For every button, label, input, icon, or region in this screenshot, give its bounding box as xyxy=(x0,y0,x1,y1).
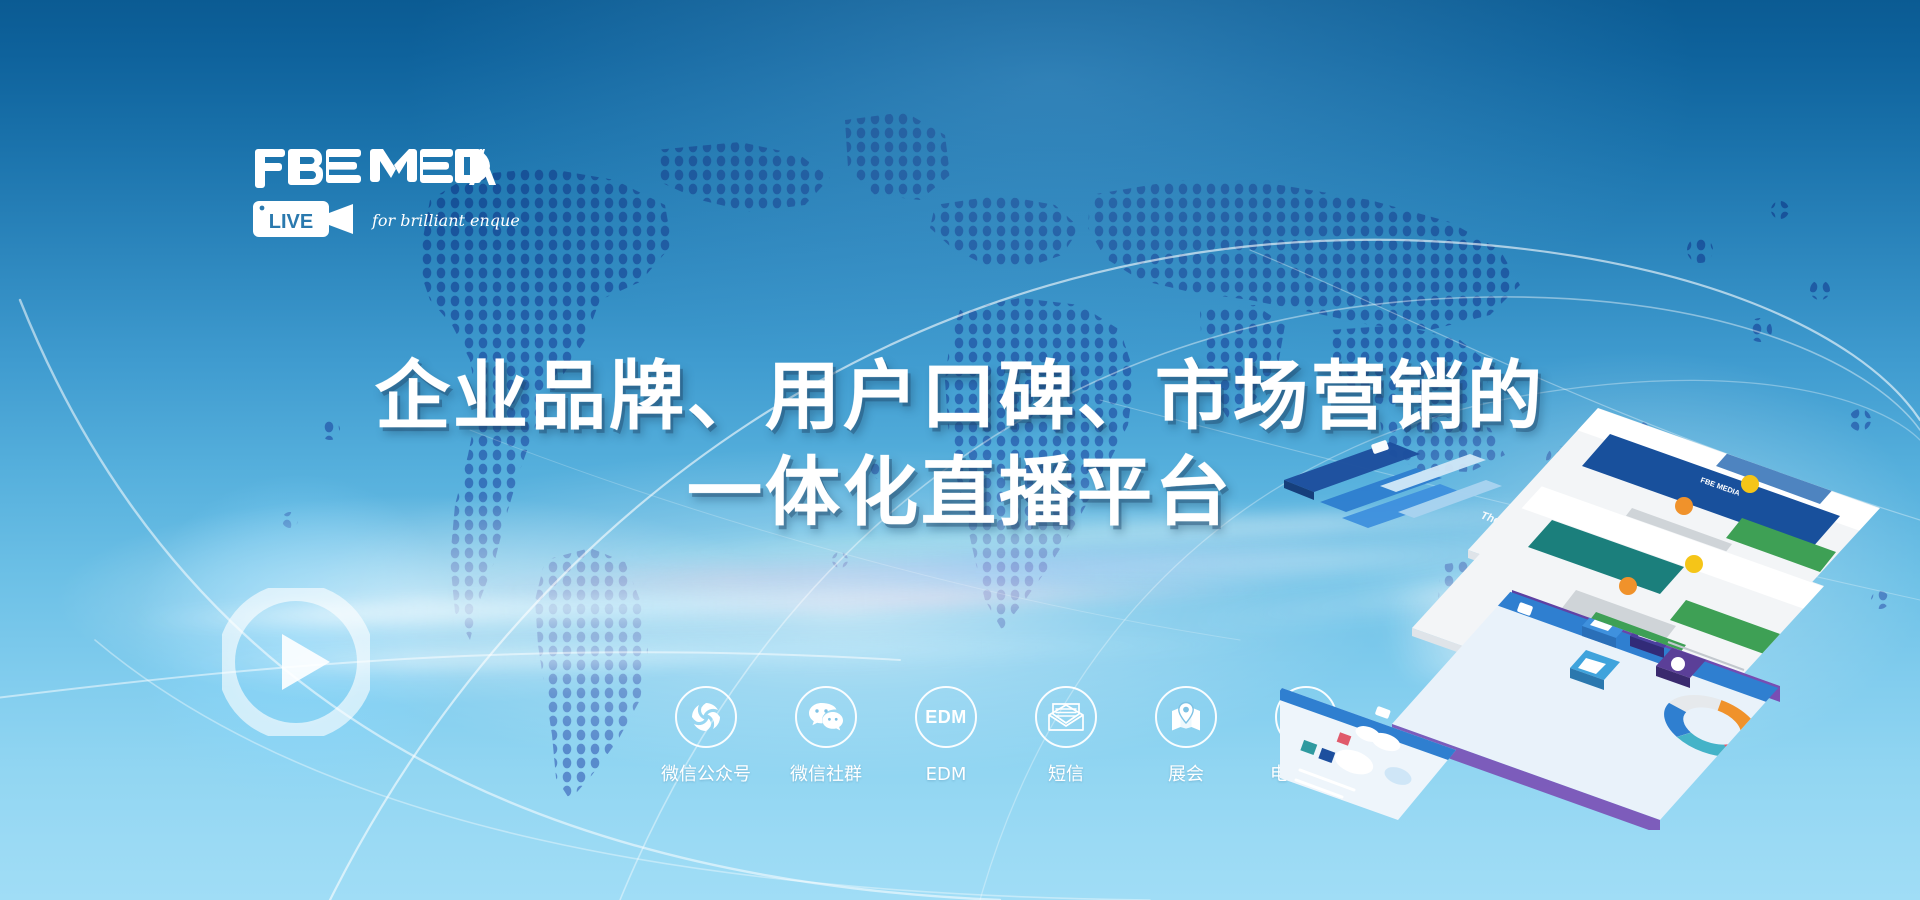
channel-item-exhibition[interactable]: 展会 xyxy=(1140,686,1232,785)
wechat-official-account-icon xyxy=(675,686,737,748)
logo-wordmark xyxy=(253,145,523,191)
channel-item-edm[interactable]: EDM EDM xyxy=(900,686,992,785)
channel-icon-row: 微信公众号 微信社群 EDM EDM xyxy=(660,686,1352,785)
channel-item-wechat-group[interactable]: 微信社群 xyxy=(780,686,872,785)
play-button[interactable] xyxy=(222,588,370,736)
channel-item-sms[interactable]: 短信 xyxy=(1020,686,1112,785)
channel-label: 短信 xyxy=(1048,765,1084,785)
edm-icon-label: EDM xyxy=(925,707,967,728)
play-triangle-icon xyxy=(282,634,330,690)
promo-banner: LIVE for brilliant enquerers 企业品牌、用户口碑、市… xyxy=(0,0,1920,900)
channel-label: EDM xyxy=(926,765,967,785)
edm-text-icon: EDM xyxy=(915,686,977,748)
channel-label: 微信公众号 xyxy=(661,765,751,785)
channel-label: 微信社群 xyxy=(790,765,862,785)
floating-bars xyxy=(1284,440,1502,528)
isometric-device-mockups: The financial Robot artific. FBE MEDIA xyxy=(1280,390,1920,830)
channel-item-wechat-official[interactable]: 微信公众号 xyxy=(660,686,752,785)
channel-label: 展会 xyxy=(1168,765,1204,785)
envelope-icon xyxy=(1035,686,1097,748)
logo-tagline-text: for brilliant enquerers xyxy=(371,211,520,230)
live-camera-badge: LIVE xyxy=(253,199,361,238)
logo-tagline: for brilliant enquerers xyxy=(370,203,520,235)
map-pin-icon xyxy=(1155,686,1217,748)
wechat-chat-bubbles-icon xyxy=(795,686,857,748)
live-badge-text: LIVE xyxy=(269,211,313,233)
fbe-media-live-logo[interactable]: LIVE for brilliant enquerers xyxy=(253,145,523,238)
